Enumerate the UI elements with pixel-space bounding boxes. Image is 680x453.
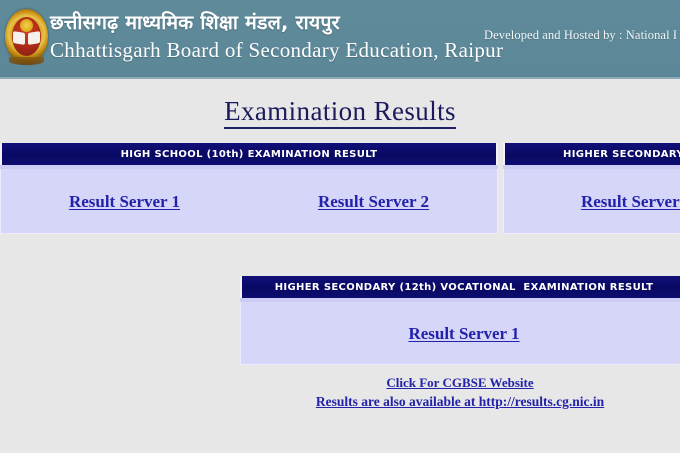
emblem-sun-icon (20, 19, 33, 32)
page-title: Examination Results (0, 96, 680, 127)
panel-high-school-heading: HIGH SCHOOL (10th) EXAMINATION RESULT (121, 149, 378, 160)
cgbse-website-link[interactable]: Click For CGBSE Website (240, 374, 680, 392)
board-name-block: छत्तीसगढ़ माध्यमिक शिक्षा मंडल, रायपुर C… (50, 10, 503, 64)
vocational-result-server-1-link[interactable]: Result Server 1 (408, 324, 519, 344)
panel-high-school-body: Result Server 1 Result Server 2 (0, 169, 498, 234)
panel-higher-secondary-header: HIGHER SECONDARY (503, 143, 680, 165)
emblem-base (9, 57, 44, 65)
high-school-result-server-2-link[interactable]: Result Server 2 (318, 192, 429, 212)
panel-high-school: HIGH SCHOOL (10th) EXAMINATION RESULT Re… (0, 143, 498, 234)
panel-vocational-header: HIGHER SECONDARY (12th) VOCATIONAL EXAMI… (240, 276, 680, 298)
panel-higher-secondary-heading: HIGHER SECONDARY (563, 149, 680, 160)
panel-vocational: HIGHER SECONDARY (12th) VOCATIONAL EXAMI… (240, 276, 680, 365)
panel-higher-secondary-body: Result Server 1 (503, 169, 680, 234)
higher-secondary-result-server-1-link[interactable]: Result Server 1 (581, 192, 680, 212)
emblem-book-left-page (13, 31, 25, 45)
high-school-result-server-1-link[interactable]: Result Server 1 (69, 192, 180, 212)
site-header: छत्तीसगढ़ माध्यमिक शिक्षा मंडल, रायपुर C… (0, 0, 680, 79)
panel-vocational-body: Result Server 1 (240, 302, 680, 365)
developed-hosted-credit: Developed and Hosted by : National I (484, 28, 677, 43)
board-name-hindi: छत्तीसगढ़ माध्यमिक शिक्षा मंडल, रायपुर (50, 10, 503, 36)
panel-vocational-heading: HIGHER SECONDARY (12th) VOCATIONAL EXAMI… (275, 282, 654, 293)
panel-high-school-header: HIGH SCHOOL (10th) EXAMINATION RESULT (0, 143, 498, 165)
footer-links: Click For CGBSE Website Results are also… (240, 374, 680, 411)
results-mirror-link[interactable]: Results are also available at http://res… (240, 392, 680, 411)
page-title-text: Examination Results (224, 96, 456, 129)
cgbse-emblem-logo-icon (3, 6, 50, 70)
emblem-open-book-icon (13, 32, 40, 45)
panel-higher-secondary: HIGHER SECONDARY Result Server 1 (503, 143, 680, 234)
emblem-book-right-page (28, 31, 40, 45)
board-name-english: Chhattisgarh Board of Secondary Educatio… (50, 36, 503, 64)
